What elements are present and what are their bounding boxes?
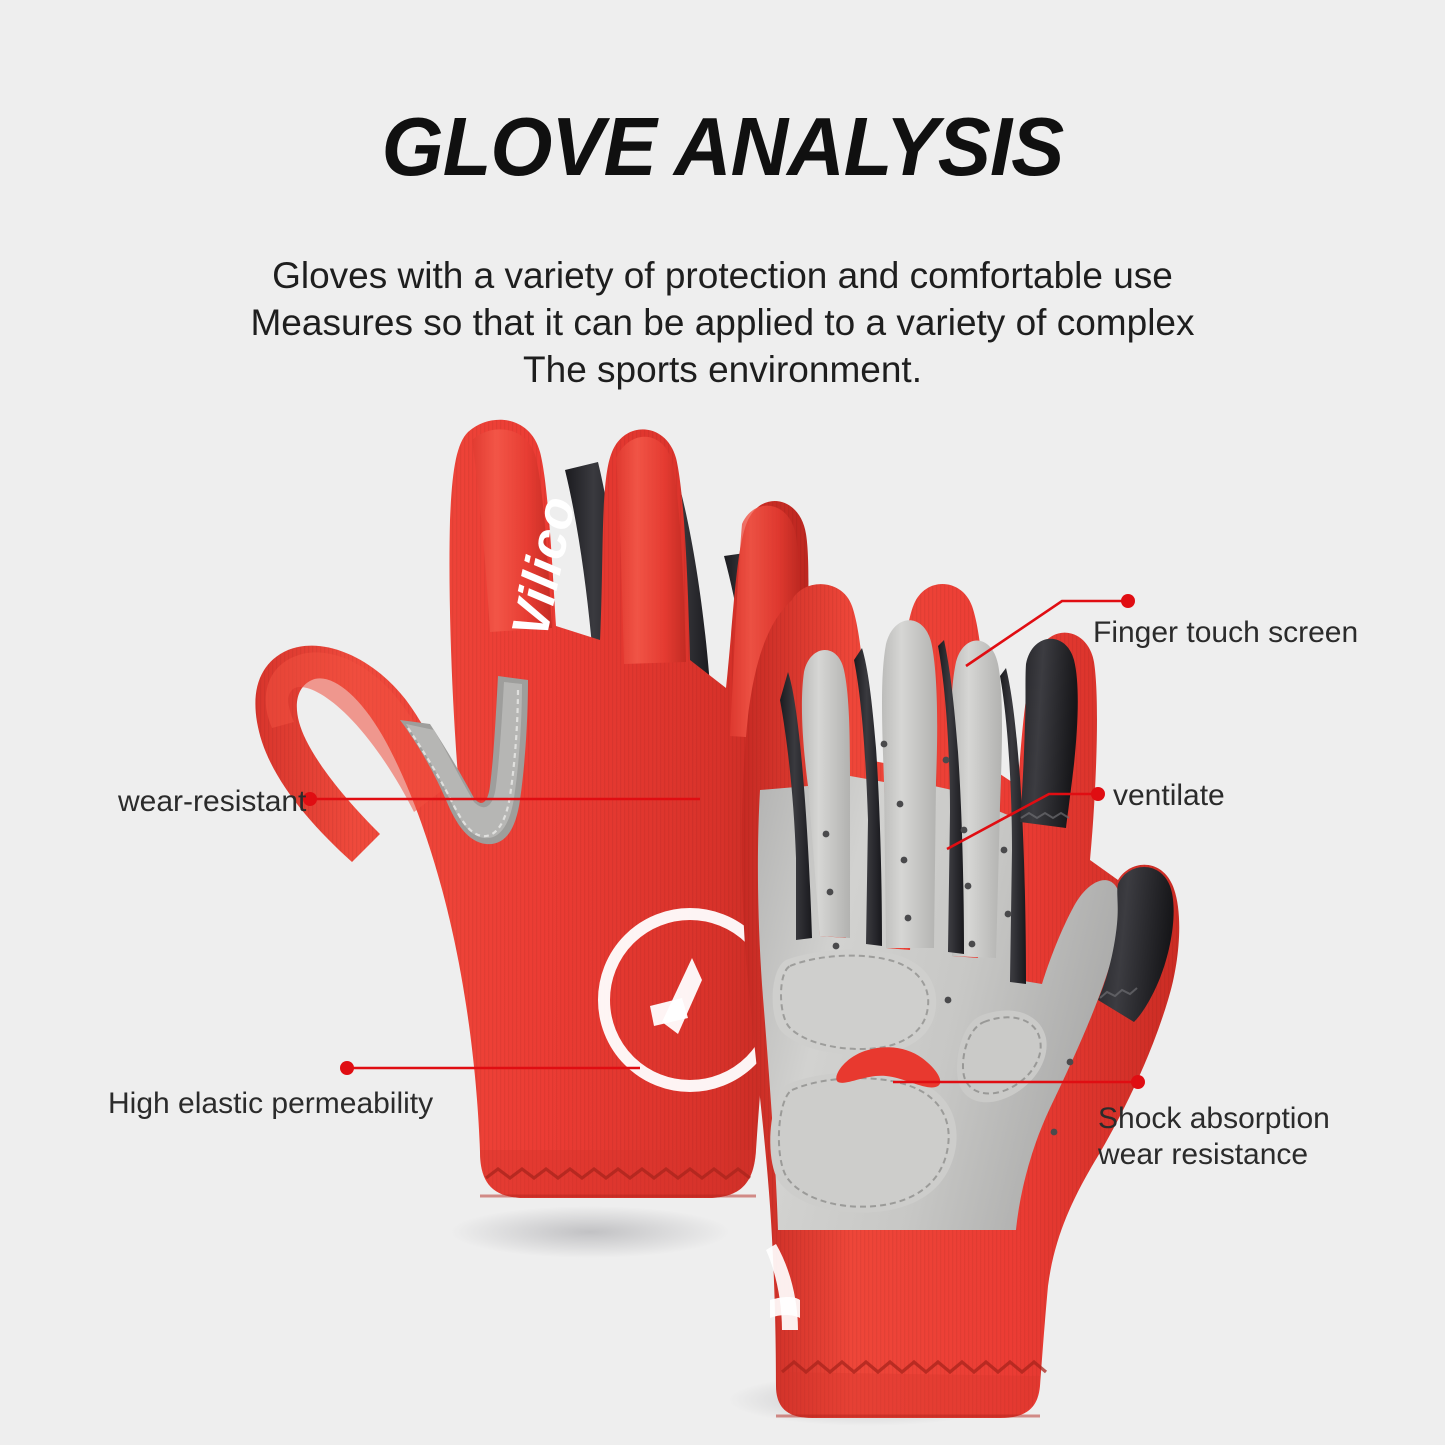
left-glove-shadow xyxy=(450,1206,730,1258)
callout-label-ventilate: ventilate xyxy=(1113,778,1225,814)
cuff-shade-right xyxy=(776,1372,1040,1418)
glove-palm-view xyxy=(742,584,1180,1418)
infographic-canvas: GLOVE ANALYSIS Gloves with a variety of … xyxy=(0,0,1445,1445)
callout-label-wear-resistant: wear-resistant xyxy=(118,784,306,820)
callout-label-high-elastic-permeability: High elastic permeability xyxy=(108,1086,433,1122)
glove-back-view: Vilico xyxy=(255,420,808,1198)
touchscreen-index-tip xyxy=(1020,639,1078,828)
callout-label-finger-touch-screen: Finger touch screen xyxy=(1093,615,1358,651)
glove-illustration-group: Vilico xyxy=(0,0,1445,1445)
palm-grey-fingers xyxy=(802,620,1002,958)
cuff-shade-left xyxy=(480,1150,756,1198)
callout-label-shock-absorption-wear-resistance: Shock absorption wear resistance xyxy=(1098,1101,1330,1173)
